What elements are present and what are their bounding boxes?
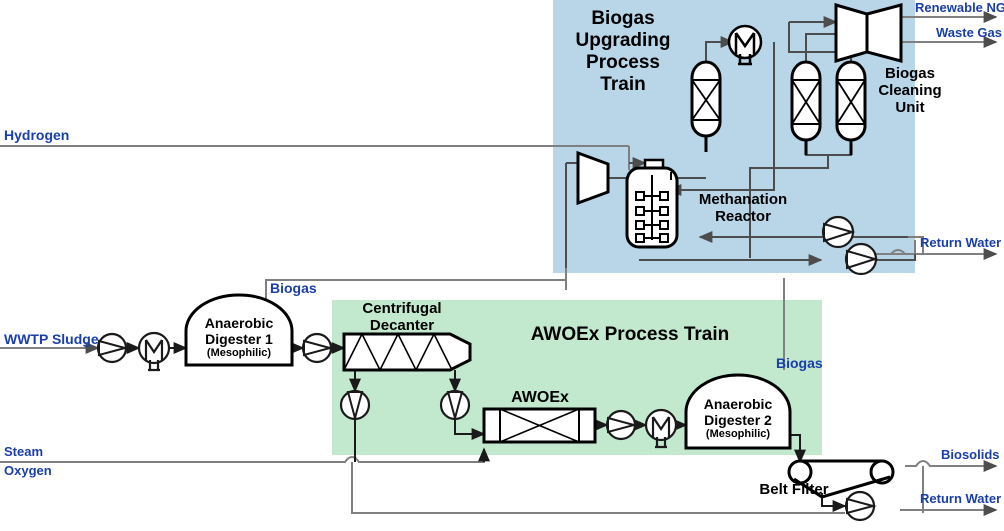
- compressor-icon: [836, 5, 901, 61]
- mixer-icon-1: [139, 333, 169, 370]
- digester1-line1: Anaerobic: [186, 316, 292, 332]
- digester1-line2: Digester 1: [186, 332, 292, 348]
- decanter-line2: Decanter: [347, 318, 457, 335]
- pump-icon-4: [441, 391, 469, 419]
- stream-label-oxygen: Oxygen: [4, 463, 52, 478]
- decanter-line1: Centrifugal: [347, 301, 457, 318]
- pump-icon-1: [98, 334, 126, 362]
- cleaning-line3: Unit: [870, 100, 950, 117]
- stream-label-renewable-ng: Renewable NG: [915, 0, 1004, 15]
- digester2-sub: (Mesophilic): [686, 428, 790, 440]
- stream-label-biogas-1: Biogas: [270, 280, 317, 296]
- stream-label-biogas-2: Biogas: [776, 355, 823, 371]
- digester2-line2: Digester 2: [686, 413, 790, 429]
- panel-title-biogas-upgrading: Biogas Upgrading Process Train: [563, 8, 683, 95]
- stream-label-steam: Steam: [4, 444, 43, 459]
- methanation-line2: Reactor: [684, 209, 802, 226]
- centrifugal-decanter-icon: [344, 334, 470, 370]
- stream-label-return-water-top: Return Water: [920, 235, 1001, 250]
- awoex-unit-icon: [484, 409, 595, 442]
- stream-label-waste-gas: Waste Gas: [936, 25, 1002, 40]
- label-biogas-cleaning-unit: Biogas Cleaning Unit: [870, 66, 950, 116]
- pump-icon-6: [846, 492, 874, 520]
- pump-icon-2: [303, 334, 331, 362]
- label-methanation-reactor: Methanation Reactor: [684, 192, 802, 226]
- diagram-canvas: [0, 0, 1004, 531]
- pump-icon-7: [823, 217, 853, 247]
- pump-icon-3: [341, 391, 369, 419]
- digester1-sub: (Mesophilic): [186, 347, 292, 359]
- label-centrifugal-decanter: Centrifugal Decanter: [347, 301, 457, 335]
- stream-label-hydrogen: Hydrogen: [4, 127, 69, 143]
- methanation-reactor-icon: [627, 160, 677, 247]
- panel-title-awoex: AWOEx Process Train: [490, 324, 770, 346]
- cleaning-line1: Biogas: [870, 66, 950, 83]
- pump-icon-5: [607, 411, 635, 439]
- process-flow-diagram: Biogas Upgrading Process Train AWOEx Pro…: [0, 0, 1004, 531]
- methanation-line1: Methanation: [684, 192, 802, 209]
- digester2-line1: Anaerobic: [686, 397, 790, 413]
- cleaning-line2: Cleaning: [870, 83, 950, 100]
- pump-icon-8: [846, 244, 876, 274]
- label-anaerobic-digester-1: Anaerobic Digester 1 (Mesophilic): [186, 316, 292, 360]
- label-anaerobic-digester-2: Anaerobic Digester 2 (Mesophilic): [686, 397, 790, 441]
- stream-label-biosolids: Biosolids: [941, 447, 1000, 462]
- label-awoex-unit: AWOEx: [500, 389, 580, 407]
- label-belt-filter: Belt Filter: [746, 482, 842, 499]
- stream-label-wwtp-sludge: WWTP Sludge: [4, 331, 99, 347]
- stream-label-return-water-bottom: Return Water: [920, 491, 1001, 506]
